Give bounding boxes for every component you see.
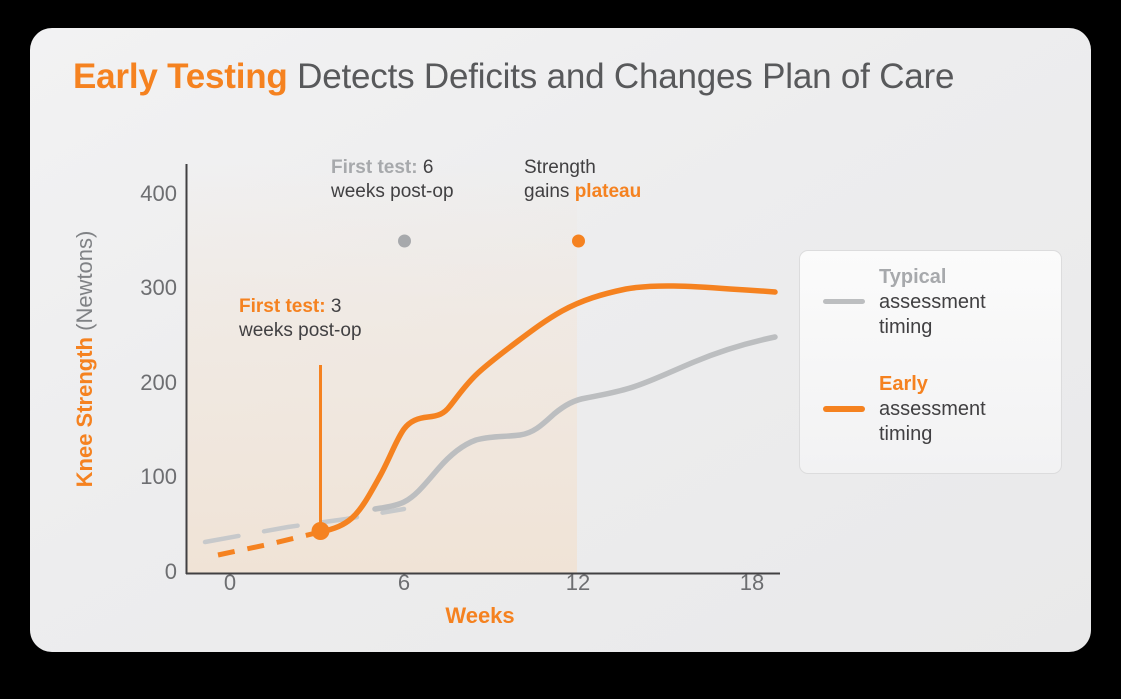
annotation-6-weeks-line2: weeks post-op <box>331 181 454 202</box>
dot-week-6 <box>398 235 411 248</box>
annotation-3-weeks-rest: 3 <box>326 296 342 317</box>
legend-item-typical[interactable]: Typical assessment timing <box>800 265 1049 340</box>
x-tick-12: 12 <box>548 572 608 594</box>
legend-label-typical: Typical assessment timing <box>879 265 1049 340</box>
x-tick-18: 18 <box>722 572 782 594</box>
legend-title-typical: Typical <box>879 266 946 288</box>
y-tick-0: 0 <box>125 561 177 583</box>
annotation-3-weeks-line2: weeks post-op <box>239 320 362 341</box>
legend-subtitle-typical-1: assessment <box>879 291 986 313</box>
chart-card: Early Testing Detects Deficits and Chang… <box>30 28 1091 652</box>
legend-subtitle-early-2: timing <box>879 423 932 445</box>
screenshot-root: Early Testing Detects Deficits and Chang… <box>0 0 1121 699</box>
y-axis-label-accent: Knee Strength <box>72 337 97 487</box>
annotation-plateau-line1: Strength <box>524 157 596 178</box>
legend-swatch-typical <box>823 299 865 304</box>
legend-title-early: Early <box>879 373 928 395</box>
annotation-plateau-accent: plateau <box>575 181 642 202</box>
y-tick-200: 200 <box>125 372 177 394</box>
annotation-6-weeks-rest: 6 <box>418 157 434 178</box>
annotation-first-test-3-weeks: First test: 3 weeks post-op <box>239 295 362 343</box>
chart-plot-area: 400 300 200 100 0 0 6 12 18 Knee Strengt… <box>30 28 1091 652</box>
legend-label-early: Early assessment timing <box>879 372 1049 447</box>
legend-subtitle-early-1: assessment <box>879 398 986 420</box>
annotation-6-weeks-accent: First test: <box>331 157 418 178</box>
legend-swatch-early <box>823 406 865 412</box>
annotation-strength-gains-plateau: Strength gains plateau <box>524 156 641 204</box>
dot-week-3 <box>312 522 330 540</box>
y-tick-100: 100 <box>125 466 177 488</box>
annotation-plateau-line2-rest: gains <box>524 181 575 202</box>
y-axis-label: Knee Strength (Newtons) <box>72 194 98 524</box>
y-tick-400: 400 <box>125 183 177 205</box>
x-tick-6: 6 <box>374 572 434 594</box>
annotation-first-test-6-weeks: First test: 6 weeks post-op <box>331 156 454 204</box>
dot-week-12 <box>572 235 585 248</box>
x-axis-label: Weeks <box>360 603 600 629</box>
y-tick-300: 300 <box>125 277 177 299</box>
chart-legend: Typical assessment timing Early assessme… <box>799 250 1062 474</box>
legend-item-early[interactable]: Early assessment timing <box>800 372 1049 447</box>
annotation-3-weeks-accent: First test: <box>239 296 326 317</box>
y-axis-label-rest: (Newtons) <box>72 231 97 337</box>
x-tick-0: 0 <box>200 572 260 594</box>
legend-subtitle-typical-2: timing <box>879 316 932 338</box>
